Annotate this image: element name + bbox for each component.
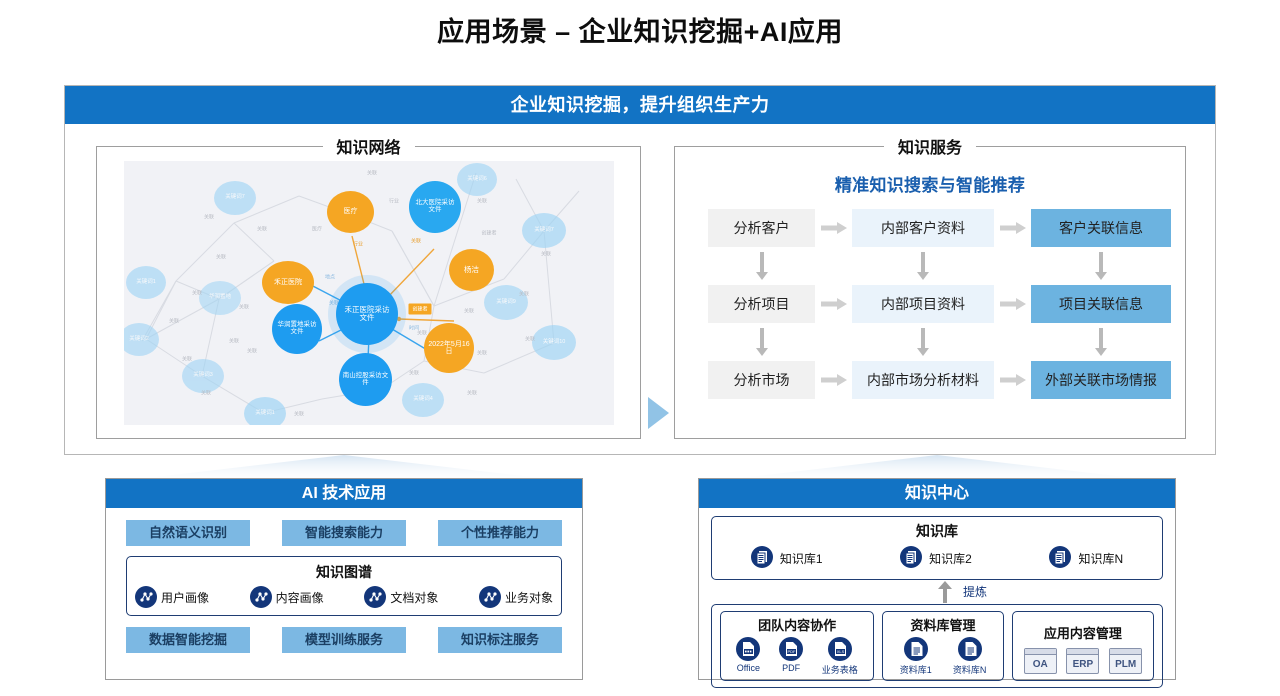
down-arrow-icon [852, 323, 994, 361]
graph-node-yangjie[interactable]: 杨洁 [449, 249, 494, 291]
panels-row: 知识网络 [65, 124, 1215, 454]
knowledge-sources-box: 团队内容协作 Office PDF PDF XLS 业务表格 [711, 604, 1163, 688]
knowledge-library-items: 知识库1 知识库2 知识库N [712, 546, 1162, 571]
source-tile-label: 资料库N [953, 663, 987, 676]
service-down-arrows [708, 247, 1171, 285]
knowledge-graph-title: 知识图谱 [135, 562, 553, 582]
group-items: OA ERP PLM [1019, 648, 1147, 674]
ai-top-chip-row: 自然语义识别 智能搜索能力 个性推荐能力 [126, 520, 562, 546]
library-item-label: 知识库N [1078, 550, 1123, 567]
graph-node-bg[interactable]: 关键词7 [522, 213, 566, 248]
group-title: 应用内容管理 [1019, 623, 1147, 642]
app-label: OA [1025, 655, 1056, 673]
group-team-collab: 团队内容协作 Office PDF PDF XLS 业务表格 [720, 611, 874, 681]
main-banner: 企业知识挖掘，提升组织生产力 [65, 86, 1215, 124]
source-tile-label: 业务表格 [822, 663, 858, 676]
ai-chip[interactable]: 自然语义识别 [126, 520, 250, 546]
source-tile-label: Office [737, 663, 760, 673]
xls-doc-icon: XLS [828, 637, 852, 661]
graph-node-bg[interactable]: 关键词6 [457, 163, 497, 196]
ai-panel-body: 自然语义识别 智能搜索能力 个性推荐能力 知识图谱 用户画像 内容画像 [106, 508, 582, 653]
edge-label: 关联 [201, 390, 211, 397]
service-row: 分析项目 内部项目资料 项目关联信息 [708, 285, 1171, 323]
source-tile-label: 资料库1 [900, 663, 932, 676]
edge-label: 关联 [216, 254, 226, 261]
group-items: 资料库1 资料库N [889, 637, 997, 676]
edge-label: 关联 [204, 214, 214, 221]
graph-node-icon [364, 586, 386, 608]
kg-item[interactable]: 用户画像 [135, 586, 209, 608]
edge-label: 关联 [257, 226, 267, 233]
source-tile[interactable]: 资料库N [953, 637, 987, 676]
down-arrow-icon [708, 323, 815, 361]
edge-label: 关联 [519, 291, 529, 298]
edge-label-highlight: 时间 [409, 325, 419, 332]
library-item[interactable]: 知识库N [1049, 546, 1123, 571]
ai-technology-panel: AI 技术应用 自然语义识别 智能搜索能力 个性推荐能力 知识图谱 用户画像 [105, 478, 583, 680]
refine-label: 提炼 [963, 583, 987, 600]
up-arrow-icon [938, 581, 952, 603]
knowledge-graph-canvas[interactable]: 关键词7 关键词1 华润置地 关键词2 关键词3 关键词1 关键词4 关键词6 … [124, 161, 614, 425]
service-source[interactable]: 内部项目资料 [852, 285, 994, 323]
down-arrow-icon [1031, 247, 1171, 285]
edge-label-highlight: 地点 [325, 274, 335, 281]
refine-row: 提炼 [711, 580, 1163, 604]
graph-node-beida[interactable]: 北大医院采访文件 [409, 181, 461, 233]
library-item[interactable]: 知识库2 [900, 546, 972, 571]
edge-label: 关联 [294, 411, 304, 418]
ai-chip[interactable]: 个性推荐能力 [438, 520, 562, 546]
ai-panel-banner: AI 技术应用 [106, 479, 582, 508]
down-arrow-icon [852, 247, 994, 285]
source-tile[interactable]: PDF PDF [779, 637, 803, 676]
graph-node-icon [250, 586, 272, 608]
svg-text:XLS: XLS [837, 649, 845, 654]
group-library-mgmt: 资料库管理 资料库1 资料库N [882, 611, 1004, 681]
kg-item-label: 业务对象 [505, 589, 553, 606]
edge-label: 关联 [409, 370, 419, 377]
graph-node-huarun[interactable]: 华润置地采访文件 [272, 304, 322, 354]
knowledge-center-body: 知识库 知识库1 知识库2 [699, 508, 1175, 696]
library-item-label: 知识库1 [780, 550, 823, 567]
knowledge-library-title: 知识库 [712, 521, 1162, 541]
knowledge-network-panel: 知识网络 [96, 146, 641, 439]
edge-label: 关联 [192, 290, 202, 297]
right-arrow-icon [815, 374, 852, 386]
kg-item-label: 用户画像 [161, 589, 209, 606]
kg-item-label: 文档对象 [390, 589, 438, 606]
right-arrow-icon [994, 298, 1031, 310]
app-window-icon[interactable]: OA [1024, 648, 1057, 674]
group-title: 资料库管理 [889, 615, 997, 634]
service-result[interactable]: 项目关联信息 [1031, 285, 1171, 323]
graph-node-bg[interactable]: 关键词4 [402, 383, 444, 417]
knowledge-network-title: 知识网络 [322, 134, 414, 158]
knowledge-service-heading: 精准知识搜索与智能推荐 [675, 171, 1185, 196]
edge-label: 关联 [477, 350, 487, 357]
edge-label: 关联 [541, 251, 551, 258]
right-triangle-icon [648, 397, 669, 429]
down-arrow-icon [708, 247, 815, 285]
edge-label: 创建者 [481, 230, 496, 237]
graph-node-center[interactable]: 禾正医院采访文件 [336, 283, 398, 345]
service-result[interactable]: 客户关联信息 [1031, 209, 1171, 247]
service-step[interactable]: 分析市场 [708, 361, 815, 399]
graph-node-bg[interactable]: 关键词1 [126, 266, 166, 299]
edge-label: 关联 [239, 304, 249, 311]
down-arrow-icon [1031, 323, 1171, 361]
graph-node-nanshan[interactable]: 南山控股采访文件 [339, 353, 392, 406]
knowledge-center-panel: 知识中心 知识库 知识库1 知识库2 [698, 478, 1176, 680]
source-tile[interactable]: XLS 业务表格 [822, 637, 858, 676]
service-row: 分析市场 内部市场分析材料 外部关联市场情报 [708, 361, 1171, 399]
documents-stack-icon [751, 546, 773, 571]
graph-node-icon [135, 586, 157, 608]
ai-chip[interactable]: 数据智能挖掘 [126, 627, 250, 653]
documents-stack-icon [1049, 546, 1071, 571]
edge-label-highlight: 行业 [353, 241, 363, 248]
group-app-content-mgmt: 应用内容管理 OA ERP PLM [1012, 611, 1154, 681]
knowledge-service-panel: 知识服务 精准知识搜索与智能推荐 分析客户 内部客户资料 客户关联信息 [674, 146, 1186, 439]
ai-bottom-chip-row: 数据智能挖掘 模型训练服务 知识标注服务 [126, 627, 562, 653]
right-arrow-icon [994, 222, 1031, 234]
service-source[interactable]: 内部市场分析材料 [852, 361, 994, 399]
kg-item[interactable]: 内容画像 [250, 586, 324, 608]
graph-node-bg[interactable]: 关键词3 [182, 359, 224, 393]
pdf-doc-icon: PDF [779, 637, 803, 661]
page-title: 应用场景 – 企业知识挖掘+AI应用 [0, 10, 1280, 49]
edge-label: 关联 [464, 308, 474, 315]
service-down-arrows [708, 323, 1171, 361]
svg-text:PDF: PDF [788, 649, 797, 654]
edge-label: 关联 [169, 318, 179, 325]
knowledge-graph-box: 知识图谱 用户画像 内容画像 [126, 556, 562, 616]
graph-node-bg[interactable]: 华润置地 [199, 281, 241, 315]
office-doc-icon [736, 637, 760, 661]
graph-node-bg[interactable]: 关键词10 [532, 325, 576, 360]
kg-item[interactable]: 文档对象 [364, 586, 438, 608]
graph-node-bg[interactable]: 关键词7 [214, 181, 256, 215]
graph-node-hezheng-hospital[interactable]: 禾正医院 [262, 261, 314, 304]
service-step[interactable]: 分析项目 [708, 285, 815, 323]
source-tile-label: PDF [782, 663, 800, 673]
knowledge-center-banner: 知识中心 [699, 479, 1175, 508]
main-frame: 企业知识挖掘，提升组织生产力 知识网络 [64, 85, 1216, 455]
service-row: 分析客户 内部客户资料 客户关联信息 [708, 209, 1171, 247]
knowledge-service-grid: 分析客户 内部客户资料 客户关联信息 [708, 209, 1171, 399]
edge-label: 关联 [467, 390, 477, 397]
service-source[interactable]: 内部客户资料 [852, 209, 994, 247]
graph-node-bg[interactable]: 关键词1 [244, 397, 286, 425]
service-result[interactable]: 外部关联市场情报 [1031, 361, 1171, 399]
knowledge-library-box: 知识库 知识库1 知识库2 [711, 516, 1163, 580]
kg-item-label: 内容画像 [276, 589, 324, 606]
documents-stack-icon [900, 546, 922, 571]
ai-chip[interactable]: 模型训练服务 [282, 627, 406, 653]
source-tile[interactable]: Office [736, 637, 760, 676]
right-arrow-icon [994, 374, 1031, 386]
source-tile[interactable]: 资料库1 [900, 637, 932, 676]
ai-chip[interactable]: 智能搜索能力 [282, 520, 406, 546]
service-step[interactable]: 分析客户 [708, 209, 815, 247]
group-title: 团队内容协作 [727, 615, 867, 634]
library-item-label: 知识库2 [929, 550, 972, 567]
kg-item[interactable]: 业务对象 [479, 586, 553, 608]
edge-label: 关联 [477, 198, 487, 205]
library-item[interactable]: 知识库1 [751, 546, 823, 571]
knowledge-service-title: 知识服务 [884, 134, 976, 158]
right-arrow-icon [815, 298, 852, 310]
edge-label: 行业 [389, 198, 399, 205]
app-window-icon[interactable]: ERP [1066, 648, 1099, 674]
app-label: PLM [1110, 655, 1141, 673]
right-arrow-icon [815, 222, 852, 234]
edge-label-highlight: 关联 [411, 238, 421, 245]
knowledge-graph-items: 用户画像 内容画像 文档对象 [135, 586, 553, 608]
graph-node-medical[interactable]: 医疗 [327, 191, 374, 233]
document-icon [958, 637, 982, 661]
app-window-icon[interactable]: PLM [1109, 648, 1142, 674]
edge-tag-creator: 创建者 [408, 304, 431, 315]
edge-label: 关联 [182, 356, 192, 363]
graph-node-icon [479, 586, 501, 608]
app-label: ERP [1067, 655, 1098, 673]
group-items: Office PDF PDF XLS 业务表格 [727, 637, 867, 676]
document-icon [904, 637, 928, 661]
edge-label: 关联 [525, 336, 535, 343]
edge-label: 医疗 [312, 226, 322, 233]
edge-label: 关联 [367, 170, 377, 177]
edge-label: 关联 [247, 348, 257, 355]
graph-node-date[interactable]: 2022年5月16日 [424, 323, 474, 373]
ai-chip[interactable]: 知识标注服务 [438, 627, 562, 653]
edge-label: 关联 [229, 338, 239, 345]
